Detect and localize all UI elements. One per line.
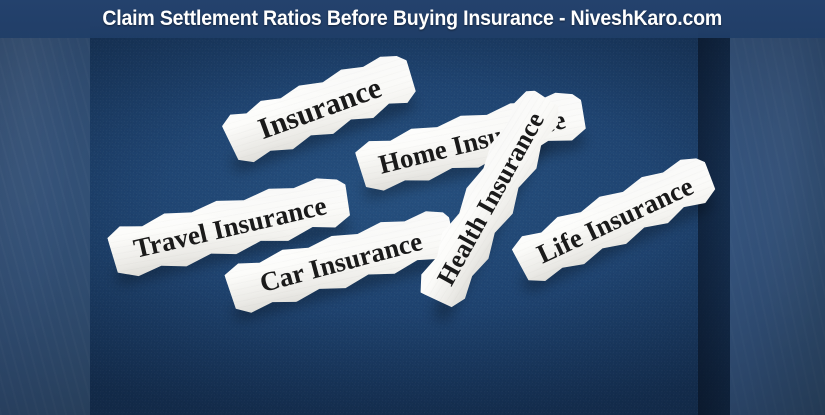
paper-scraps-group: Travel Insurance Insurance Home Insuranc… — [0, 0, 825, 415]
article-hero-image: Travel Insurance Insurance Home Insuranc… — [0, 0, 825, 415]
paper-scrap-life-insurance: Life Insurance — [506, 148, 723, 292]
hero-title-bar: Claim Settlement Ratios Before Buying In… — [0, 0, 825, 38]
page-title: Claim Settlement Ratios Before Buying In… — [103, 7, 723, 31]
